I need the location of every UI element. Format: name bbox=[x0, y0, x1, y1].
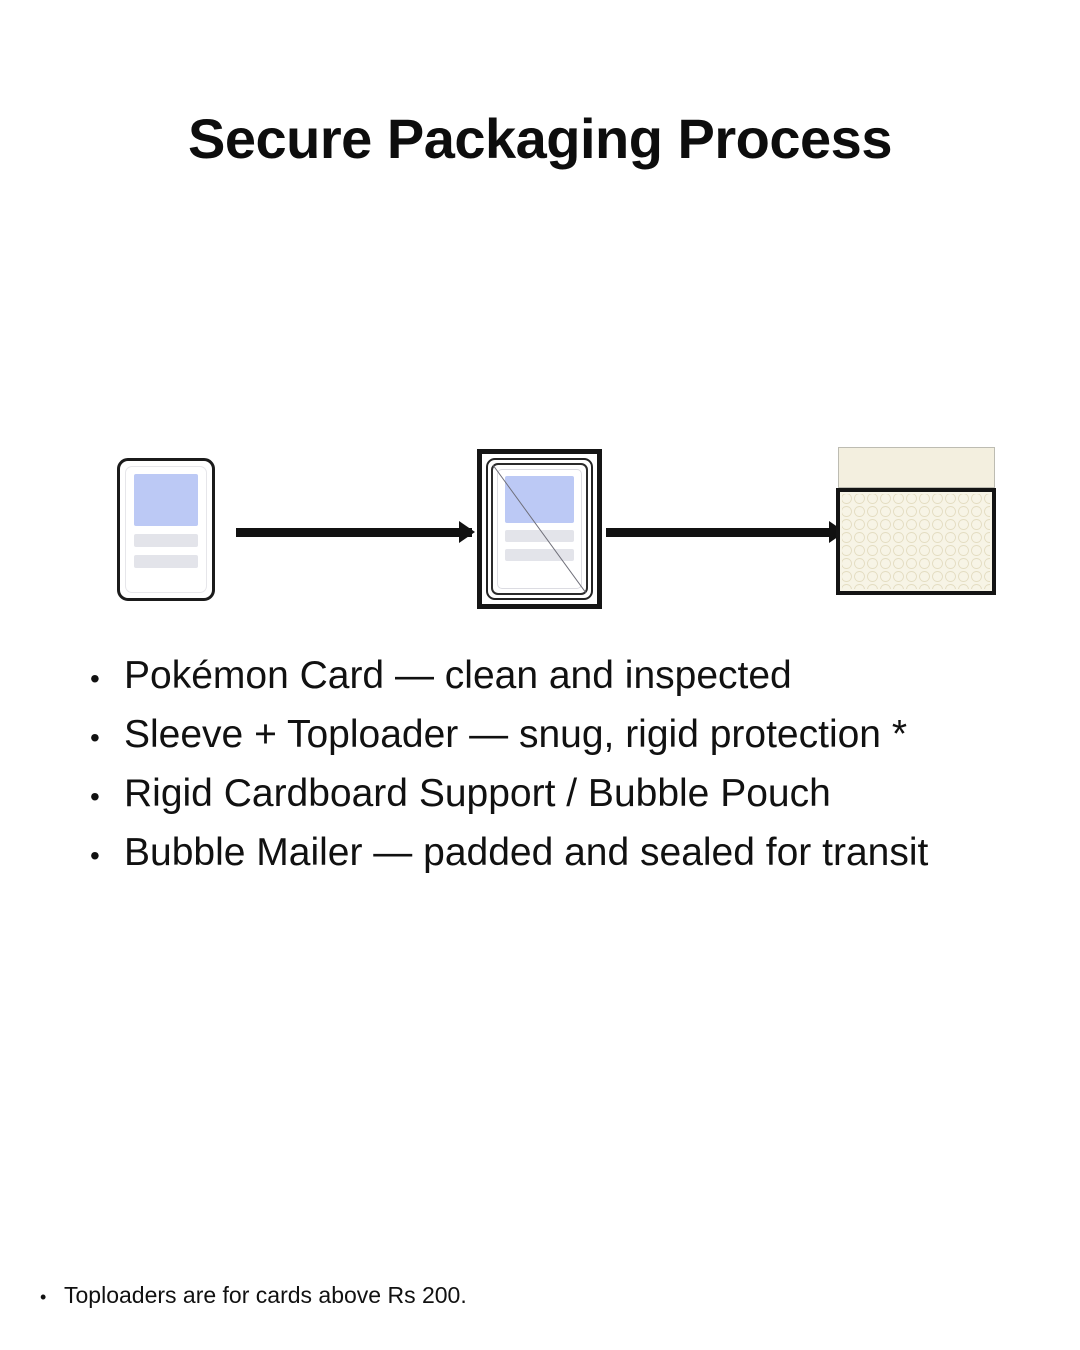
list-item-label: Pokémon Card — clean and inspected bbox=[124, 648, 1050, 704]
bullet-marker-icon: • bbox=[90, 651, 124, 707]
sleeved-card-face bbox=[497, 469, 582, 589]
card-face bbox=[125, 466, 207, 593]
packaging-steps-list: • Pokémon Card — clean and inspected • S… bbox=[90, 648, 1050, 884]
list-item: • Bubble Mailer — padded and sealed for … bbox=[90, 825, 1050, 884]
bullet-marker-icon: • bbox=[90, 710, 124, 766]
sleeved-card-text-line bbox=[505, 530, 574, 542]
sleeved-card-artwork-block bbox=[505, 476, 574, 523]
bullet-marker-icon: • bbox=[90, 828, 124, 884]
sleeved-card-text-line bbox=[505, 549, 574, 561]
diagram-step-sleeve-toploader bbox=[477, 449, 602, 609]
footnote-bullet-marker-icon: • bbox=[40, 1280, 64, 1314]
flow-arrow-1-head-icon bbox=[459, 521, 475, 543]
bullet-marker-icon: • bbox=[90, 769, 124, 825]
list-item: • Sleeve + Toploader — snug, rigid prote… bbox=[90, 707, 1050, 766]
sleeve-layer bbox=[491, 463, 588, 595]
flow-arrow-2-line bbox=[606, 528, 842, 537]
diagram-step-bubble-mailer bbox=[836, 488, 996, 595]
toploader-shell bbox=[486, 458, 593, 600]
list-item-label: Sleeve + Toploader — snug, rigid protect… bbox=[124, 707, 1050, 763]
flow-arrow-1-line bbox=[236, 528, 472, 537]
footnote-label: Toploaders are for cards above Rs 200. bbox=[64, 1278, 467, 1312]
list-item: • Rigid Cardboard Support / Bubble Pouch bbox=[90, 766, 1050, 825]
diagram-step-pokemon-card bbox=[117, 458, 215, 601]
list-item-label: Bubble Mailer — padded and sealed for tr… bbox=[124, 825, 1050, 881]
card-text-line bbox=[134, 555, 198, 568]
card-text-line bbox=[134, 534, 198, 547]
card-artwork-block bbox=[134, 474, 198, 526]
bubble-pattern-icon bbox=[840, 492, 992, 591]
list-item: • Pokémon Card — clean and inspected bbox=[90, 648, 1050, 707]
bubble-mailer-flap bbox=[838, 447, 995, 488]
list-item-label: Rigid Cardboard Support / Bubble Pouch bbox=[124, 766, 1050, 822]
page-title: Secure Packaging Process bbox=[0, 108, 1080, 170]
footnote: • Toploaders are for cards above Rs 200. bbox=[40, 1278, 467, 1314]
